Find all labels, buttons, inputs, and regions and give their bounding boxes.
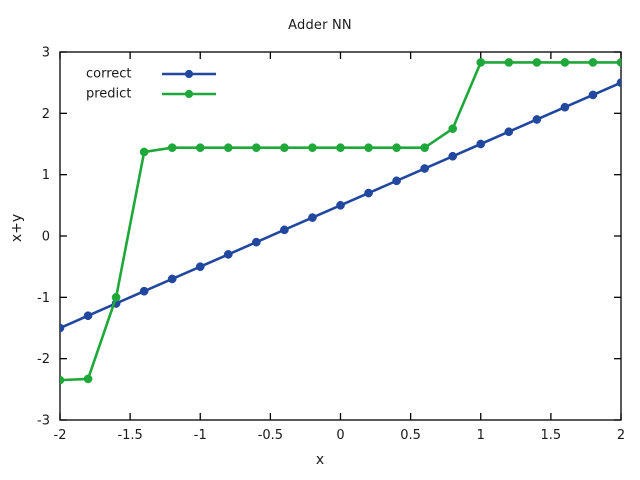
data-point — [364, 144, 372, 152]
y-tick-label: 0 — [42, 230, 50, 245]
data-point — [196, 144, 204, 152]
data-point — [589, 91, 597, 99]
data-point — [477, 58, 485, 66]
data-point — [449, 152, 457, 160]
data-point — [336, 144, 344, 152]
data-point — [84, 312, 92, 320]
axes-frame — [60, 52, 621, 420]
plot-border — [60, 52, 621, 420]
y-tick-label: 3 — [42, 46, 50, 61]
data-point — [393, 144, 401, 152]
x-tick-label: 0.5 — [400, 428, 421, 443]
x-tick-label: 1 — [477, 428, 485, 443]
data-point — [56, 376, 64, 384]
data-point — [308, 144, 316, 152]
data-point — [252, 144, 260, 152]
y-tick-label: -2 — [37, 352, 50, 367]
x-tick-label: 2 — [617, 428, 625, 443]
x-tick-label: 1.5 — [541, 428, 562, 443]
y-tick-label: -1 — [37, 291, 50, 306]
data-point — [364, 189, 372, 197]
legend-marker-predict — [185, 90, 193, 98]
data-point — [533, 58, 541, 66]
y-axis-ticks: -3-2-10123 — [37, 46, 621, 429]
data-point — [84, 375, 92, 383]
data-point — [421, 164, 429, 172]
data-point — [168, 144, 176, 152]
data-point — [561, 58, 569, 66]
series-predict — [56, 58, 625, 384]
chart-figure: Adder NN x+y x -3-2-10123 -2-1.5-1-0.500… — [0, 0, 640, 480]
data-point — [449, 125, 457, 133]
data-point — [589, 58, 597, 66]
data-point — [561, 103, 569, 111]
data-point — [505, 58, 513, 66]
data-point — [140, 148, 148, 156]
data-point — [196, 263, 204, 271]
data-point — [112, 293, 120, 301]
legend-label-correct: correct — [86, 67, 132, 82]
data-point — [140, 287, 148, 295]
data-point — [308, 214, 316, 222]
data-point — [617, 58, 625, 66]
data-point — [533, 115, 541, 123]
data-point — [224, 144, 232, 152]
data-point — [393, 177, 401, 185]
plot-area: -3-2-10123 -2-1.5-1-0.500.511.52 correct… — [0, 0, 640, 480]
x-tick-label: -1 — [194, 428, 207, 443]
data-point — [224, 250, 232, 258]
x-tick-label: -0.5 — [258, 428, 283, 443]
data-point — [477, 140, 485, 148]
x-tick-label: 0 — [336, 428, 344, 443]
data-point — [168, 275, 176, 283]
y-tick-label: -3 — [37, 414, 50, 429]
data-point — [336, 201, 344, 209]
legend-marker-correct — [185, 70, 193, 78]
x-axis-ticks: -2-1.5-1-0.500.511.52 — [54, 52, 626, 443]
y-tick-label: 2 — [42, 107, 50, 122]
data-point — [505, 128, 513, 136]
data-point — [56, 324, 64, 332]
data-point — [280, 226, 288, 234]
data-point — [617, 79, 625, 87]
x-tick-label: -2 — [54, 428, 67, 443]
data-point — [252, 238, 260, 246]
x-tick-label: -1.5 — [117, 428, 142, 443]
data-series-layer — [56, 58, 625, 384]
series-correct — [56, 79, 625, 333]
y-tick-label: 1 — [42, 168, 50, 183]
legend-label-predict: predict — [86, 87, 131, 102]
series-line — [60, 62, 621, 380]
data-point — [421, 144, 429, 152]
data-point — [280, 144, 288, 152]
chart-legend: correctpredict — [86, 67, 216, 102]
